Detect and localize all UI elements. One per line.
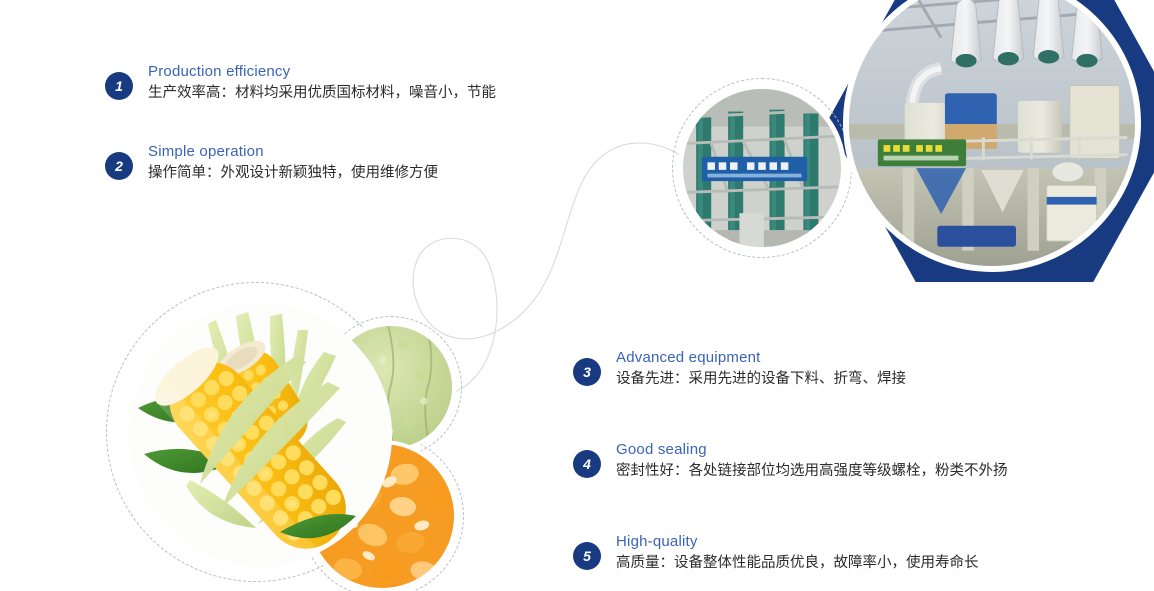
feature-desc-5: 高质量：设备整体性能品质优良，故障率小，使用寿命长	[616, 552, 1088, 574]
feature-title-1: Production efficiency	[148, 62, 570, 82]
feature-item-4[interactable]: 4 Good sealing 密封性好：各处链接部位均选用高强度等级螺栓，粉类不…	[568, 440, 1088, 484]
feature-item-3[interactable]: 3 Advanced equipment 设备先进：采用先进的设备下料、折弯、焊…	[568, 348, 1088, 392]
feature-badge-2: 2	[105, 152, 133, 180]
feature-text-5: High-quality 高质量：设备整体性能品质优良，故障率小，使用寿命长	[568, 532, 1088, 574]
feature-text-4: Good sealing 密封性好：各处链接部位均选用高强度等级螺栓，粉类不外扬	[568, 440, 1088, 482]
feature-item-5[interactable]: 5 High-quality 高质量：设备整体性能品质优良，故障率小，使用寿命长	[568, 532, 1088, 576]
feature-title-5: High-quality	[616, 532, 1088, 552]
feature-badge-4: 4	[573, 450, 601, 478]
feature-badge-5: 5	[573, 542, 601, 570]
fresh-corn-cob-photo	[130, 304, 392, 566]
hero-image-group	[660, 0, 1154, 282]
feature-desc-3: 设备先进：采用先进的设备下料、折弯、焊接	[616, 368, 1088, 390]
feature-text-3: Advanced equipment 设备先进：采用先进的设备下料、折弯、焊接	[568, 348, 1088, 390]
corn-image-group	[88, 282, 478, 591]
feature-badge-3: 3	[573, 358, 601, 386]
infographic-stage: 1 Production efficiency 生产效率高：材料均采用优质国标材…	[0, 0, 1154, 591]
feature-text-1: Production efficiency 生产效率高：材料均采用优质国标材料，…	[100, 62, 570, 104]
feature-title-2: Simple operation	[148, 142, 570, 162]
feature-desc-2: 操作简单：外观设计新颖独特，使用维修方便	[148, 162, 570, 184]
feature-title-4: Good sealing	[616, 440, 1088, 460]
feature-desc-1: 生产效率高：材料均采用优质国标材料，噪音小，节能	[148, 82, 570, 104]
feature-list-top: 1 Production efficiency 生产效率高：材料均采用优质国标材…	[100, 62, 570, 222]
green-milling-machinery-photo	[678, 84, 846, 252]
feature-badge-1: 1	[105, 72, 133, 100]
feature-item-2[interactable]: 2 Simple operation 操作简单：外观设计新颖独特，使用维修方便	[100, 142, 570, 186]
feature-text-2: Simple operation 操作简单：外观设计新颖独特，使用维修方便	[100, 142, 570, 184]
feature-desc-4: 密封性好：各处链接部位均选用高强度等级螺栓，粉类不外扬	[616, 460, 1088, 482]
feature-title-3: Advanced equipment	[616, 348, 1088, 368]
feature-item-1[interactable]: 1 Production efficiency 生产效率高：材料均采用优质国标材…	[100, 62, 570, 106]
feature-list-bottom: 3 Advanced equipment 设备先进：采用先进的设备下料、折弯、焊…	[568, 348, 1088, 591]
